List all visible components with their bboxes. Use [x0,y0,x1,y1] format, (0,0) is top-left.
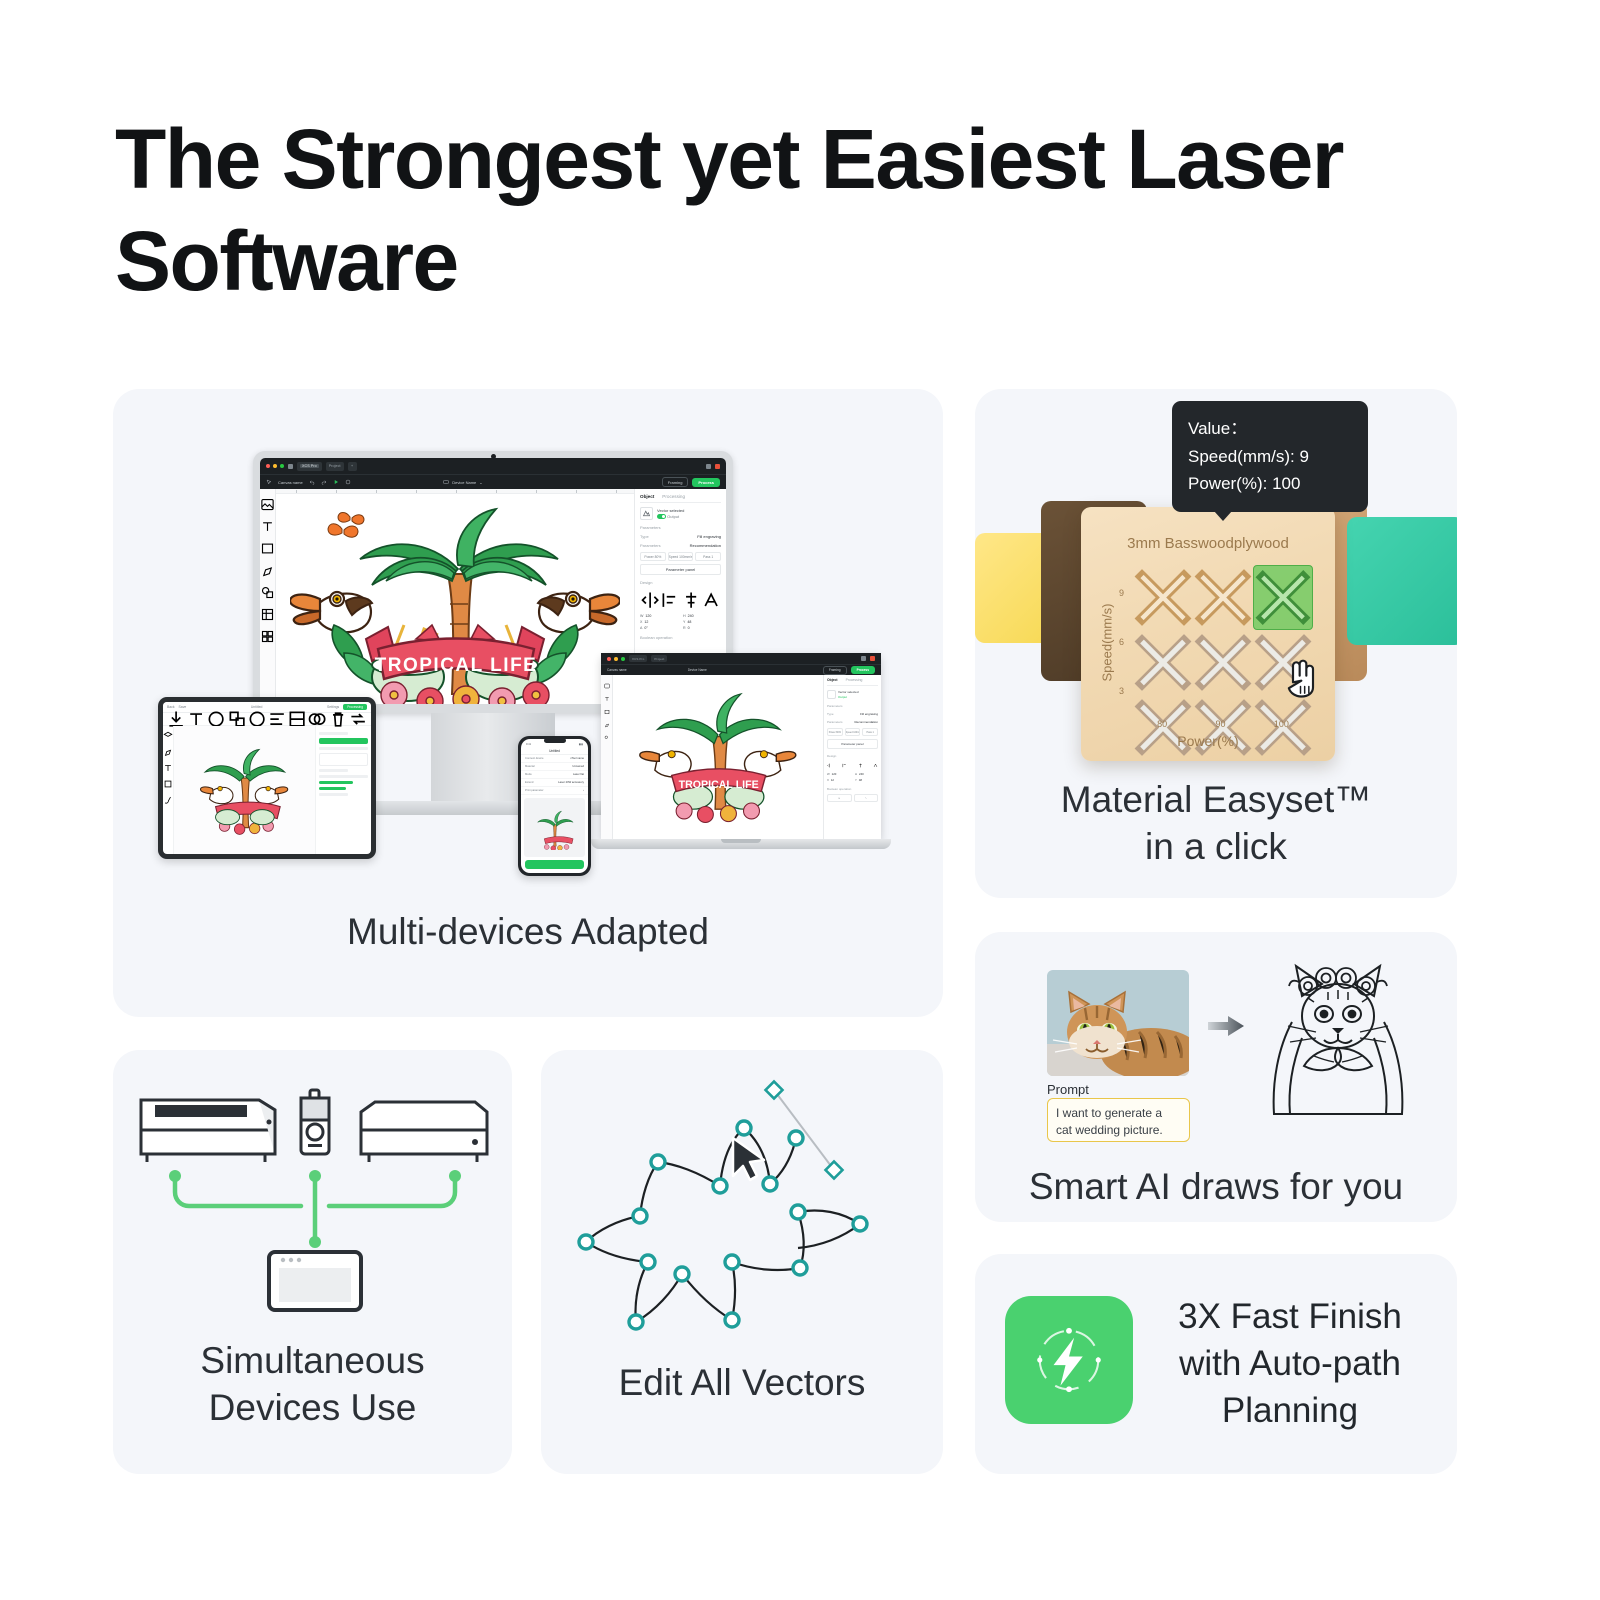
v: 48 [859,778,862,782]
source-cat-photo [1047,970,1189,1076]
boolean-union-button[interactable]: ∪ [827,794,852,802]
dim-radius[interactable]: R 0 [683,626,721,630]
framing-label: Framing [668,480,683,485]
caption-line-1: Material Easyset™ [975,777,1457,824]
tablet-selection-box [319,753,368,766]
caption-line-3: Planning [1145,1388,1435,1435]
laptop-param-value2: Recommendation [854,720,876,724]
text-style-icon[interactable] [873,763,876,768]
laptop-param-key2: Parameters [827,720,843,724]
process-label: Process [698,480,714,485]
x-tick: 80 [1157,719,1167,729]
card-caption-material: Material Easyset™ in a click [975,777,1457,870]
caption-line-1: 3X Fast Finish [1145,1294,1435,1341]
settings-icon[interactable] [345,479,351,485]
phone-row-extend[interactable]: Extend Laser 20W accessory [521,779,588,787]
tablet-right-panel [315,726,371,854]
grid-icon[interactable] [260,629,275,644]
grid-cell[interactable] [1133,565,1193,630]
chip-power[interactable]: Power 80% [640,552,666,561]
pen-icon[interactable] [260,563,275,578]
cursor-tool-icon[interactable] [266,479,272,485]
prompt-label: Prompt [1047,1082,1089,1097]
row-value: Laser 20W accessory [558,781,584,784]
shapes-icon[interactable] [260,585,275,600]
pen-icon[interactable] [606,722,610,728]
dim-key: A [640,626,642,630]
k: Y [855,778,857,782]
card-caption-multi-devices: Multi-devices Adapted [113,909,943,956]
y-axis-ticks: 9 6 3 [1119,569,1124,715]
card-caption-fast: 3X Fast Finish with Auto-path Planning [1145,1294,1435,1435]
v: 240 [859,772,864,776]
boolean-subtract-button[interactable]: ∖ [854,794,877,802]
y-tick: 3 [1119,686,1124,696]
caption-line-2: in a click [975,824,1457,871]
phone-preview[interactable] [524,798,585,857]
tropical-artwork-thumb [199,744,289,836]
tablet-canvas[interactable] [174,726,315,854]
align-left-icon[interactable] [660,590,680,610]
tab-processing[interactable]: Processing [662,494,685,499]
laptop-tab-label: XCS Pro [632,658,644,661]
tab-badge: XCS Pro [300,464,319,468]
hand-pointer-icon [1286,659,1320,699]
pen-icon[interactable] [163,747,173,757]
speed-slider[interactable] [319,787,346,790]
grid-cell[interactable] [1193,565,1253,630]
laptop-parameter-panel-button[interactable]: Parameter panel [827,739,876,749]
card-caption-simultaneous: Simultaneous Devices Use [113,1338,512,1431]
design-canvas[interactable]: TROPICAL LIFE [276,489,634,704]
laptop-device: XCS Pro Project Canvas name Device Name [591,653,891,863]
k: X [827,778,829,782]
laptop-chip-speed[interactable]: Speed 100mm/s [845,728,861,736]
brush-icon[interactable] [163,795,173,805]
bell-icon[interactable] [706,464,711,469]
card-edit-vectors: Edit All Vectors [541,1050,943,1474]
laptop-tropical-artwork: TROPICAL LIFE [638,688,798,826]
dim-key: Y [683,620,685,624]
output-label: Output [667,514,679,519]
param-value: Recommendation [690,543,721,548]
k: W [827,772,830,776]
caption-line-1: Simultaneous [113,1338,512,1385]
k: H [855,772,857,776]
laptop-banner-text: TROPICAL LIFE [679,779,759,791]
arrow-right-icon [1208,1016,1244,1036]
chip-speed[interactable]: Speed 100mm/s [668,552,694,561]
device-icon [443,479,449,485]
row-key: Mode [525,773,532,776]
x-axis-label: Power(%) [1081,733,1335,749]
tropical-artwork[interactable]: TROPICAL LIFE [290,499,620,704]
vector-path-editor[interactable] [569,1070,915,1342]
laptop-notch [721,839,761,843]
window-controls[interactable] [266,464,284,468]
laptop-device-name[interactable]: Device Name [688,668,707,672]
dim-value: 0 [688,626,690,630]
rectangle-icon[interactable] [606,709,610,715]
material-test-board[interactable]: 3mm Basswoodplywood Speed(mm/s) 9 6 3 [1081,507,1335,761]
phone-device: 9:41 ▮▮▮ Untitled Connect device xTool n… [518,736,591,876]
laptop-canvas[interactable]: TROPICAL LIFE [613,675,823,835]
layers-icon[interactable] [163,731,173,741]
tab-project-label: Project [329,464,341,468]
laptop-chip-pass[interactable]: Pass 1 [862,728,876,736]
tablet-device: Back Save Untitled Settings Processing [158,697,376,859]
x-tick: 90 [1215,719,1225,729]
phone-notch [544,738,566,743]
row-value: Laser flat [573,773,584,776]
avatar[interactable] [715,464,720,469]
shapes-icon[interactable] [606,735,610,741]
tab-xcs-pro[interactable]: XCS Pro [297,462,322,471]
dim-value: 240 [688,614,694,618]
row-value: xTool name [570,757,584,760]
dim-x[interactable]: X 12 [640,620,678,624]
laptop-framing-button[interactable]: Framing [823,666,847,675]
redo-icon[interactable] [321,479,327,485]
avatar[interactable] [870,658,875,661]
board-material-label: 3mm Basswoodplywood [1081,535,1335,552]
phone-process-button[interactable] [525,860,584,869]
laptop-tab-project-label: Project [654,658,664,661]
chevron-right-icon: › [583,789,584,792]
align-center-icon[interactable] [681,590,701,610]
x-tick: 100 [1274,719,1289,729]
bezier-handle-lines [774,1090,834,1170]
device-name-label[interactable]: Device Name [452,480,476,485]
dim-value: 48 [687,620,691,624]
tooltip-power: Power(%): 100 [1188,470,1352,498]
phone-row-mode[interactable]: Mode Laser flat [521,771,588,779]
panel-title-placeholder [319,732,348,735]
card-material-easyset: 3mm Basswoodplywood Speed(mm/s) 9 6 3 [975,389,1457,898]
laptop-tab-xcs[interactable]: XCS Pro [629,658,647,662]
parameters-heading: Parameters [640,525,721,530]
dim-h[interactable]: H 240 [683,614,721,618]
handheld-laser-icon [301,1090,329,1154]
align-center-icon[interactable] [858,763,863,768]
flip-icon[interactable] [640,590,660,610]
horizontal-ruler [276,489,634,494]
tooltip-speed: Speed(mm/s): 9 [1188,443,1352,471]
laptop-param-key: Type [827,712,834,716]
row-key: Print parameter [525,789,544,792]
bell-icon[interactable] [861,658,866,661]
laptop-dim-y: Y48 [855,778,876,782]
laser-engraver-icon [141,1100,275,1162]
tab-object[interactable]: Object [640,494,654,499]
grid-cell[interactable] [1133,630,1193,695]
panel-tabs-placeholder [319,769,348,772]
undo-icon[interactable] [309,479,315,485]
phone-row-material[interactable]: Material Unnamed [521,763,588,771]
dim-value: 12 [644,620,648,624]
anchor-nodes [579,1121,867,1329]
promo-page: The Strongest yet Easiest Laser Software [0,0,1600,1600]
laptop-param-value: Fill engraving [860,712,876,716]
pass-placeholder [319,793,348,796]
tablet-left-rail [163,726,174,854]
row-value: Unnamed [572,765,584,768]
dim-value: 0° [644,626,647,630]
dim-key: R [683,626,686,630]
card-caption-vectors: Edit All Vectors [541,1360,943,1407]
banner-text: TROPICAL LIFE [375,655,538,676]
card-multi-devices: XCS Pro Project + [113,389,943,1017]
flatbed-laser-icon [361,1102,487,1162]
laptop-boolean-heading: Boolean operation [827,787,876,791]
text-icon[interactable] [260,519,275,534]
menu-icon[interactable] [288,464,293,469]
panel-section-placeholder [319,747,368,750]
laptop-selection-thumb [827,690,836,699]
design-heading: Design [640,580,721,585]
x-axis-ticks: 80 90 100 [1133,719,1313,729]
laptop-dim-h: H240 [855,772,876,776]
y-tick: 9 [1119,588,1124,598]
laptop-tab-project[interactable]: Project [651,658,667,662]
selection-thumbnail [640,507,653,520]
prompt-input[interactable]: I want to generate a cat wedding picture… [1047,1098,1190,1142]
dim-y[interactable]: Y 48 [683,620,721,624]
laptop-dim-x: X12 [827,778,850,782]
param-row-parameters[interactable]: Parameters Recommendation [640,543,721,548]
v: 12 [831,778,834,782]
tooltip-title: Value： [1188,415,1352,443]
row-key: Material [525,765,535,768]
generated-cat-line-art [1258,952,1418,1120]
tab-add-button[interactable]: + [348,462,357,471]
row-key: Connect device [525,757,544,760]
phone-title: Untitled [549,749,560,753]
app-toolbar: Canvas name Device Name ⌄ [260,474,726,489]
laptop-tab-object[interactable]: Object [827,678,838,682]
grid-cell-selected[interactable] [1253,565,1313,630]
row-key: Extend [525,781,533,784]
play-icon[interactable] [333,479,339,485]
laptop-app: XCS Pro Project Canvas name Device Name [606,658,876,835]
caption-line-2: Devices Use [113,1385,512,1432]
tab-project[interactable]: Project [326,462,344,471]
y-axis-label: Speed(mm/s) [1099,567,1115,717]
panel-mode-placeholder [319,775,368,778]
text-icon[interactable] [163,763,173,773]
param-key: Type [640,534,649,539]
flip-icon[interactable] [827,763,832,768]
laptop-selection-title: Vector selected [838,690,859,695]
process-button[interactable]: Process [692,478,720,487]
laptop-canvas-name[interactable]: Canvas name [607,668,627,672]
canvas-name-label[interactable]: Canvas name [278,480,303,485]
param-key: Parameters [640,543,661,548]
y-axis-text: Speed(mm/s) [1100,603,1115,681]
chevron-down-icon[interactable]: ⌄ [479,480,482,485]
param-value: Fill engraving [697,534,721,539]
output-toggle[interactable] [657,514,666,519]
image-icon[interactable] [606,683,610,689]
swatch-teal [1347,517,1457,645]
page-title: The Strongest yet Easiest Laser Software [115,108,1415,313]
laptop-parameters-heading: Parameters [827,704,876,708]
text-style-icon[interactable] [701,590,721,610]
grid-cell[interactable] [1193,630,1253,695]
laptop-output-label: Output [838,695,859,700]
v: 120 [832,772,837,776]
parameter-panel-button[interactable]: Parameter panel [640,564,721,575]
devices-network-diagram [133,1068,493,1318]
phone-row-print-parameter[interactable]: Print parameter › [521,787,588,795]
phone-time: 9:41 [526,743,531,746]
left-tool-rail [260,489,276,704]
chip-pass[interactable]: Pass 1 [695,552,721,561]
image-icon[interactable] [260,497,275,512]
tablet-toolbar [163,713,371,726]
param-row-type[interactable]: Type Fill engraving [640,534,721,539]
card-caption-ai: Smart AI draws for you [975,1164,1457,1211]
laptop-chip-power[interactable]: Power 80% [827,728,843,736]
card-smart-ai: Prompt I want to generate a cat wedding … [975,932,1457,1222]
laptop-design-heading: Design [827,754,876,758]
connection-lines [175,1178,455,1240]
align-left-icon[interactable] [842,763,847,768]
phone-signal-icon: ▮▮▮ [579,743,583,746]
rectangle-icon[interactable] [260,541,275,556]
tablet-add-processing-button[interactable] [319,738,368,744]
dim-key: H [683,614,686,618]
shape-icon[interactable] [163,779,173,789]
power-slider[interactable] [319,781,353,784]
dim-angle[interactable]: A 0° [640,626,678,630]
y-tick: 6 [1119,637,1124,647]
dim-w[interactable]: W 120 [640,614,678,618]
text-icon[interactable] [606,696,610,702]
tab-add-label: + [351,464,353,468]
dim-key: X [640,620,642,624]
laptop-process-button[interactable]: Process [851,666,875,674]
app-titlebar: XCS Pro Project + [260,458,726,474]
boolean-heading: Boolean operation [640,635,721,640]
tooltip-arrow [1214,511,1232,521]
laptop-tab-processing[interactable]: Processing [846,678,863,682]
card-fast-finish: 3X Fast Finish with Auto-path Planning [975,1254,1457,1474]
dim-value: 120 [645,614,651,618]
phone-navbar: Untitled [521,747,588,755]
monitor-icon [269,1252,361,1310]
arrow-cursor-icon [733,1138,764,1180]
parameter-tooltip: Value： Speed(mm/s): 9 Power(%): 100 [1172,401,1368,512]
caption-line-2: with Auto-path [1145,1341,1435,1388]
lightning-bolt-icon [1005,1296,1133,1424]
dim-key: W [640,614,643,618]
framing-button[interactable]: Framing [662,477,689,487]
card-simultaneous-devices: Simultaneous Devices Use [113,1050,512,1474]
frame-icon[interactable] [260,607,275,622]
laptop-dim-w: W120 [827,772,850,776]
phone-row-device[interactable]: Connect device xTool name [521,755,588,763]
